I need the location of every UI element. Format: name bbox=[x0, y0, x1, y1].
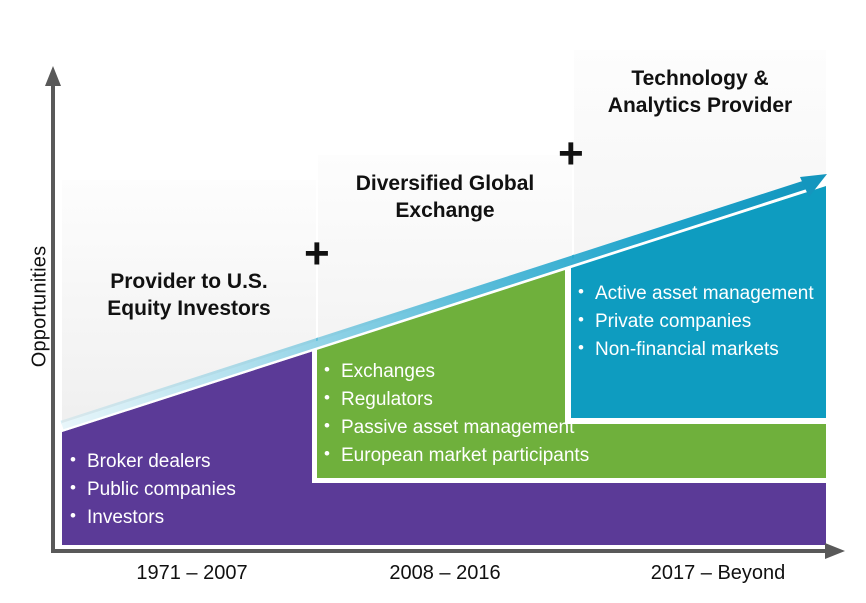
plus-icon-1: + bbox=[304, 232, 330, 276]
plus-icon-2: + bbox=[558, 132, 584, 176]
list-item: Non-financial markets bbox=[578, 336, 824, 364]
x-axis-label-era-1: 1971 – 2007 bbox=[92, 562, 292, 585]
band-separator-blue-bottom bbox=[570, 418, 826, 424]
y-axis-label: Opportunities bbox=[29, 197, 52, 417]
list-item: Passive asset management bbox=[324, 414, 589, 442]
list-item: Regulators bbox=[324, 386, 589, 414]
list-item: Active asset management bbox=[578, 280, 824, 308]
band-separator-green-bottom bbox=[316, 478, 826, 483]
list-item: Private companies bbox=[578, 308, 824, 336]
bullets-era-2: Exchanges Regulators Passive asset manag… bbox=[324, 358, 589, 470]
diagram-canvas: Provider to U.S. Equity Investors Divers… bbox=[0, 0, 866, 603]
list-item: European market participants bbox=[324, 442, 589, 470]
x-axis-label-era-3: 2017 – Beyond bbox=[618, 562, 818, 585]
bullets-era-3: Active asset management Private companie… bbox=[578, 280, 824, 364]
list-item: Investors bbox=[70, 504, 236, 532]
list-item: Public companies bbox=[70, 476, 236, 504]
bullets-era-1: Broker dealers Public companies Investor… bbox=[70, 448, 236, 532]
x-axis-label-era-2: 2008 – 2016 bbox=[345, 562, 545, 585]
list-item: Broker dealers bbox=[70, 448, 236, 476]
list-item: Exchanges bbox=[324, 358, 589, 386]
band-separator-green-left-edge bbox=[312, 350, 317, 483]
